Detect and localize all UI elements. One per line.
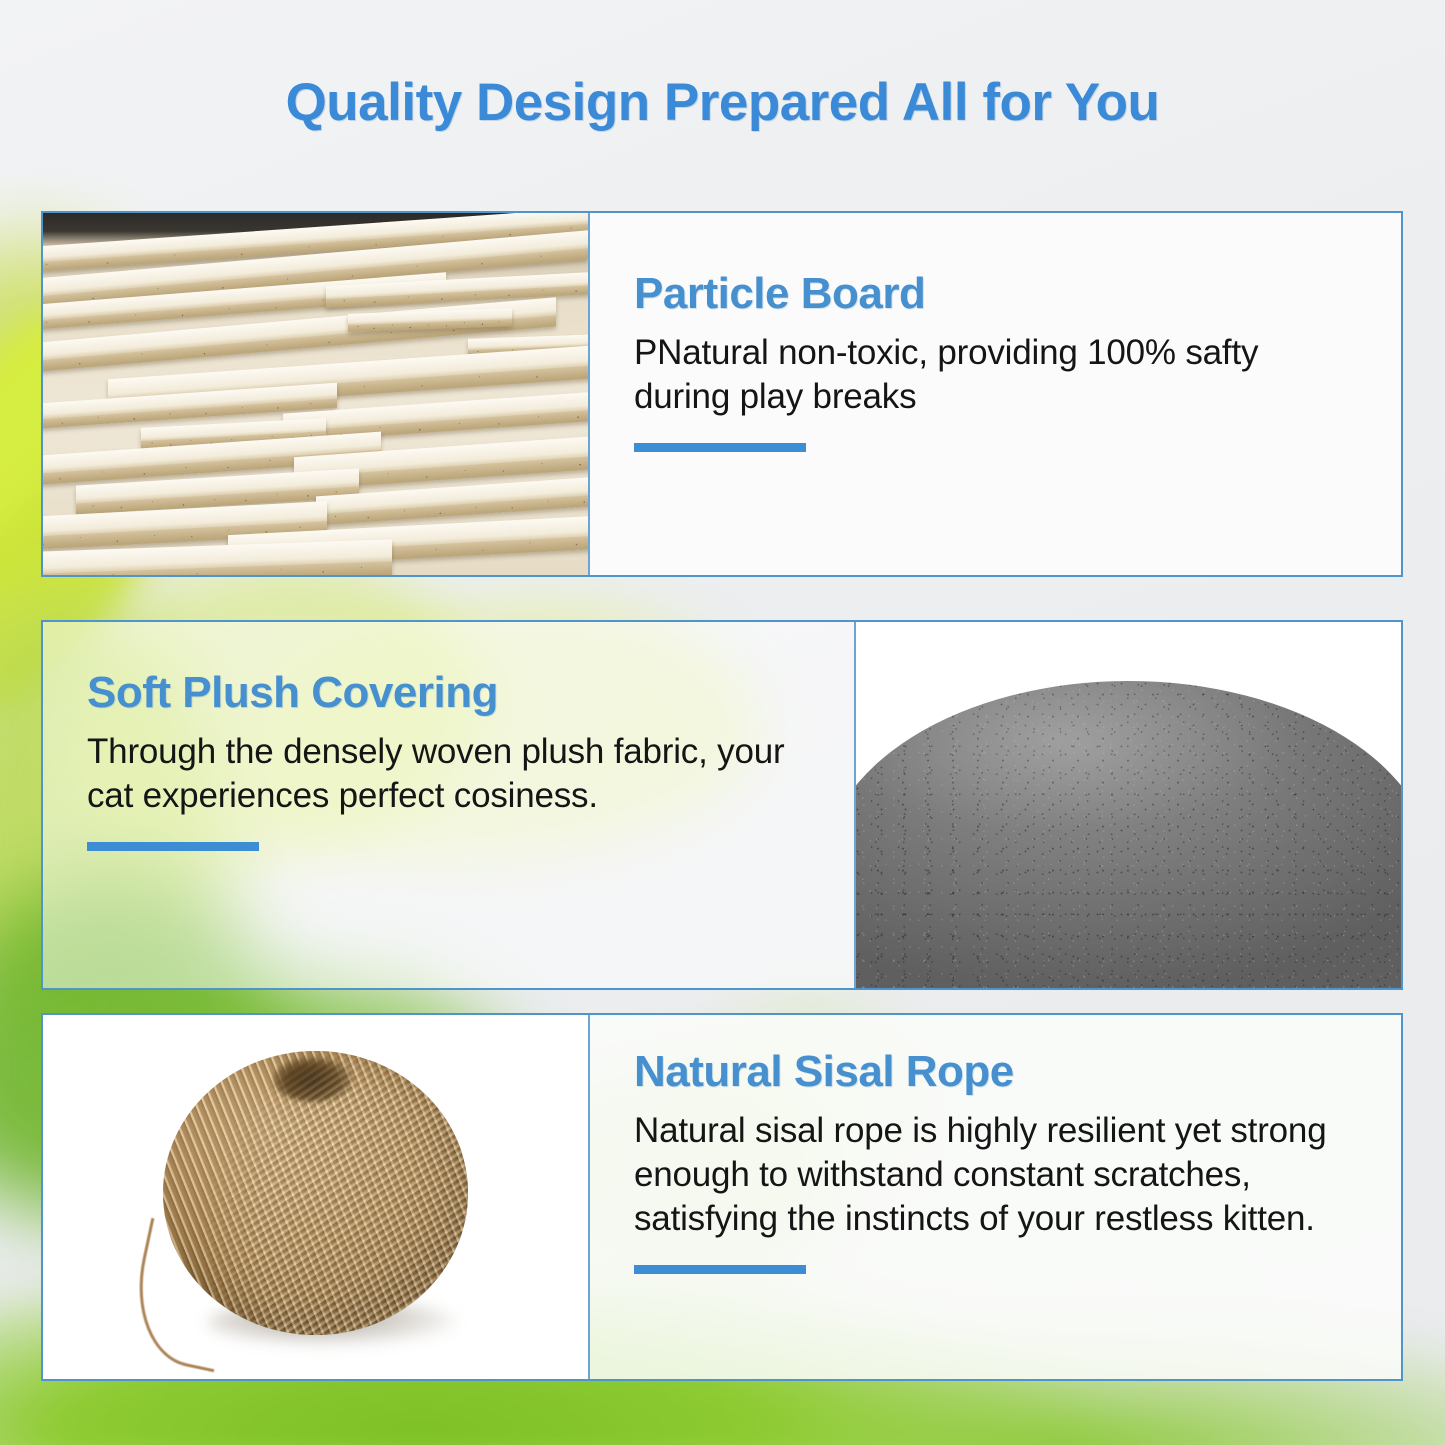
sisal-rope-heading: Natural Sisal Rope xyxy=(634,1049,1361,1095)
plush-fabric-image xyxy=(854,622,1401,988)
soft-plush-text-pane: Soft Plush Covering Through the densely … xyxy=(43,622,854,988)
feature-card-particle-board: Particle Board PNatural non-toxic, provi… xyxy=(41,211,1403,577)
page-title: Quality Design Prepared All for You xyxy=(0,72,1445,133)
particle-board-text-pane: Particle Board PNatural non-toxic, provi… xyxy=(588,213,1401,575)
soft-plush-accent-bar xyxy=(87,842,259,851)
particle-board-accent-bar xyxy=(634,443,806,452)
sisal-rope-accent-bar xyxy=(634,1265,806,1274)
particle-board-heading: Particle Board xyxy=(634,271,1361,317)
soft-plush-body: Through the densely woven plush fabric, … xyxy=(87,730,814,818)
particle-board-image xyxy=(43,213,588,575)
particle-board-body: PNatural non-toxic, providing 100% safty… xyxy=(634,331,1361,419)
sisal-rope-text-pane: Natural Sisal Rope Natural sisal rope is… xyxy=(588,1015,1401,1379)
sisal-rope-body: Natural sisal rope is highly resilient y… xyxy=(634,1109,1361,1241)
sisal-rope-image xyxy=(43,1015,588,1379)
feature-card-natural-sisal-rope: Natural Sisal Rope Natural sisal rope is… xyxy=(41,1013,1403,1381)
feature-card-soft-plush-covering: Soft Plush Covering Through the densely … xyxy=(41,620,1403,990)
soft-plush-heading: Soft Plush Covering xyxy=(87,670,814,716)
infographic-canvas: Quality Design Prepared All for You xyxy=(0,0,1445,1445)
